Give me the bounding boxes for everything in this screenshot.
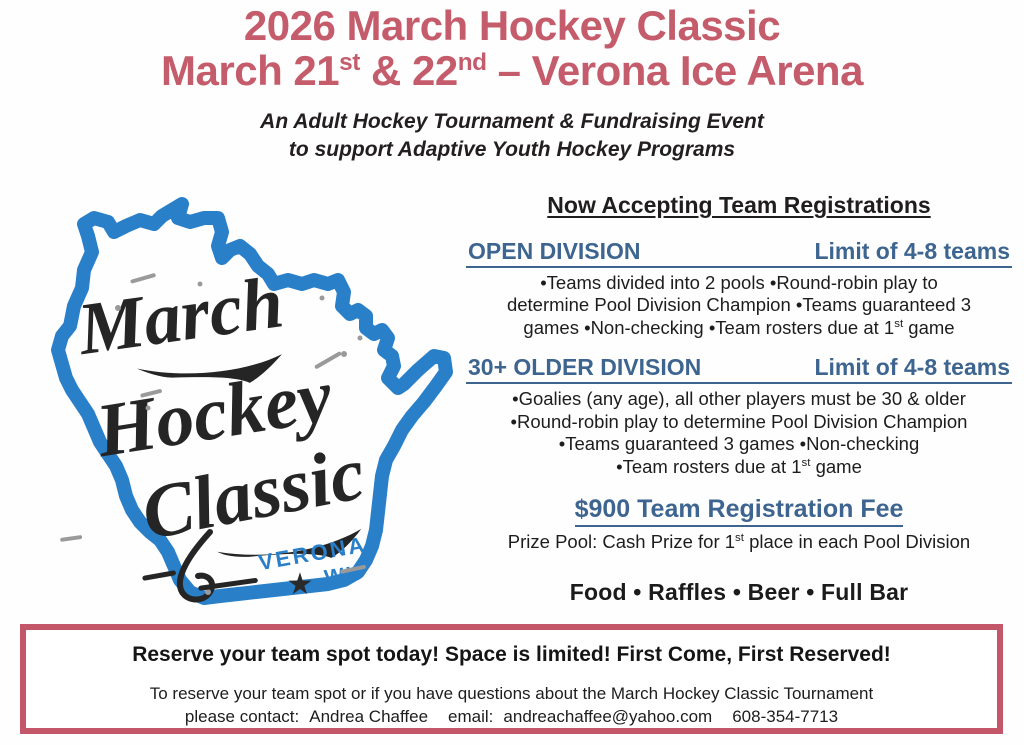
- reserve-headline: Reserve your team spot today! Space is l…: [26, 643, 997, 667]
- title-venue-part: – Verona Ice Arena: [486, 47, 862, 94]
- logo-city-state: WI.: [323, 562, 363, 590]
- older-division-limit: Limit of 4-8 teams: [814, 354, 1010, 381]
- open-division-bullet-line-3: games •Non-checking •Team rosters due at…: [472, 317, 1006, 340]
- flyer-page: 2026 March Hockey Classic March 21st & 2…: [0, 0, 1024, 745]
- logo-script-march: March: [72, 261, 288, 371]
- title-date-part-1: March 21: [161, 47, 339, 94]
- subtitle-line-2: to support Adaptive Youth Hockey Program…: [0, 136, 1024, 164]
- older-division-bullet-line-1: •Goalies (any age), all other players mu…: [472, 388, 1006, 411]
- title-line-2: March 21st & 22nd – Verona Ice Arena: [0, 49, 1024, 94]
- email-label: email:: [448, 707, 493, 726]
- subtitle-line-1: An Adult Hockey Tournament & Fundraising…: [0, 108, 1024, 136]
- page-title: 2026 March Hockey Classic March 21st & 2…: [0, 4, 1024, 93]
- contact-person-name: Andrea Chaffee: [309, 707, 428, 726]
- registration-info-column: Now Accepting Team Registrations OPEN DI…: [466, 192, 1012, 606]
- older-division-bullets: •Goalies (any age), all other players mu…: [472, 388, 1006, 479]
- open-division-bullet-line-1: •Teams divided into 2 pools •Round-robin…: [472, 272, 1006, 295]
- open-division-bullet-line-2: determine Pool Division Champion •Teams …: [472, 294, 1006, 317]
- contact-prefix: please contact:: [185, 707, 299, 726]
- contact-details: To reserve your team spot or if you have…: [26, 683, 997, 729]
- team-registration-fee-heading: $900 Team Registration Fee: [575, 495, 904, 527]
- fee-heading-wrap: $900 Team Registration Fee: [466, 495, 1012, 527]
- older-division-bullet-line-4: •Team rosters due at 1st game: [472, 456, 1006, 479]
- prize-pool-suffix: place in each Pool Division: [744, 531, 970, 552]
- older-division-bullet-line-3: •Teams guaranteed 3 games •Non-checking: [472, 433, 1006, 456]
- contact-box: Reserve your team spot today! Space is l…: [20, 624, 1003, 734]
- subtitle: An Adult Hockey Tournament & Fundraising…: [0, 108, 1024, 165]
- perks-line: Food • Raffles • Beer • Full Bar: [466, 579, 1012, 606]
- logo-star-icon: ★: [287, 567, 314, 602]
- contact-email-link[interactable]: andreachaffee@yahoo.com: [503, 707, 712, 726]
- open-division-bullets: •Teams divided into 2 pools •Round-robin…: [472, 272, 1006, 340]
- older-division-bullet-line-2: •Round-robin play to determine Pool Divi…: [472, 411, 1006, 434]
- contact-body-line-1: To reserve your team spot or if you have…: [26, 683, 997, 706]
- title-line-1: 2026 March Hockey Classic: [0, 4, 1024, 49]
- prize-pool-line: Prize Pool: Cash Prize for 1st place in …: [466, 531, 1012, 553]
- older-division-header: 30+ OLDER DIVISION Limit of 4-8 teams: [466, 354, 1012, 384]
- title-ordinal-nd: nd: [458, 49, 487, 76]
- title-ordinal-st: st: [339, 49, 360, 76]
- prize-ordinal-st: st: [735, 532, 744, 544]
- older-division-name: 30+ OLDER DIVISION: [468, 354, 701, 381]
- open-division-name: OPEN DIVISION: [468, 238, 641, 265]
- prize-pool-prefix: Prize Pool: Cash Prize for 1: [508, 531, 735, 552]
- march-hockey-classic-logo: March Hockey Classic VERONA, WI. ★: [22, 188, 462, 633]
- title-date-part-2: & 22: [360, 47, 458, 94]
- open-division-header: OPEN DIVISION Limit of 4-8 teams: [466, 238, 1012, 268]
- now-accepting-heading: Now Accepting Team Registrations: [466, 192, 1012, 220]
- contact-body-line-2: please contact:Andrea Chaffeeemail:andre…: [26, 706, 997, 729]
- open-division-limit: Limit of 4-8 teams: [814, 238, 1010, 265]
- contact-phone[interactable]: 608-354-7713: [732, 707, 838, 726]
